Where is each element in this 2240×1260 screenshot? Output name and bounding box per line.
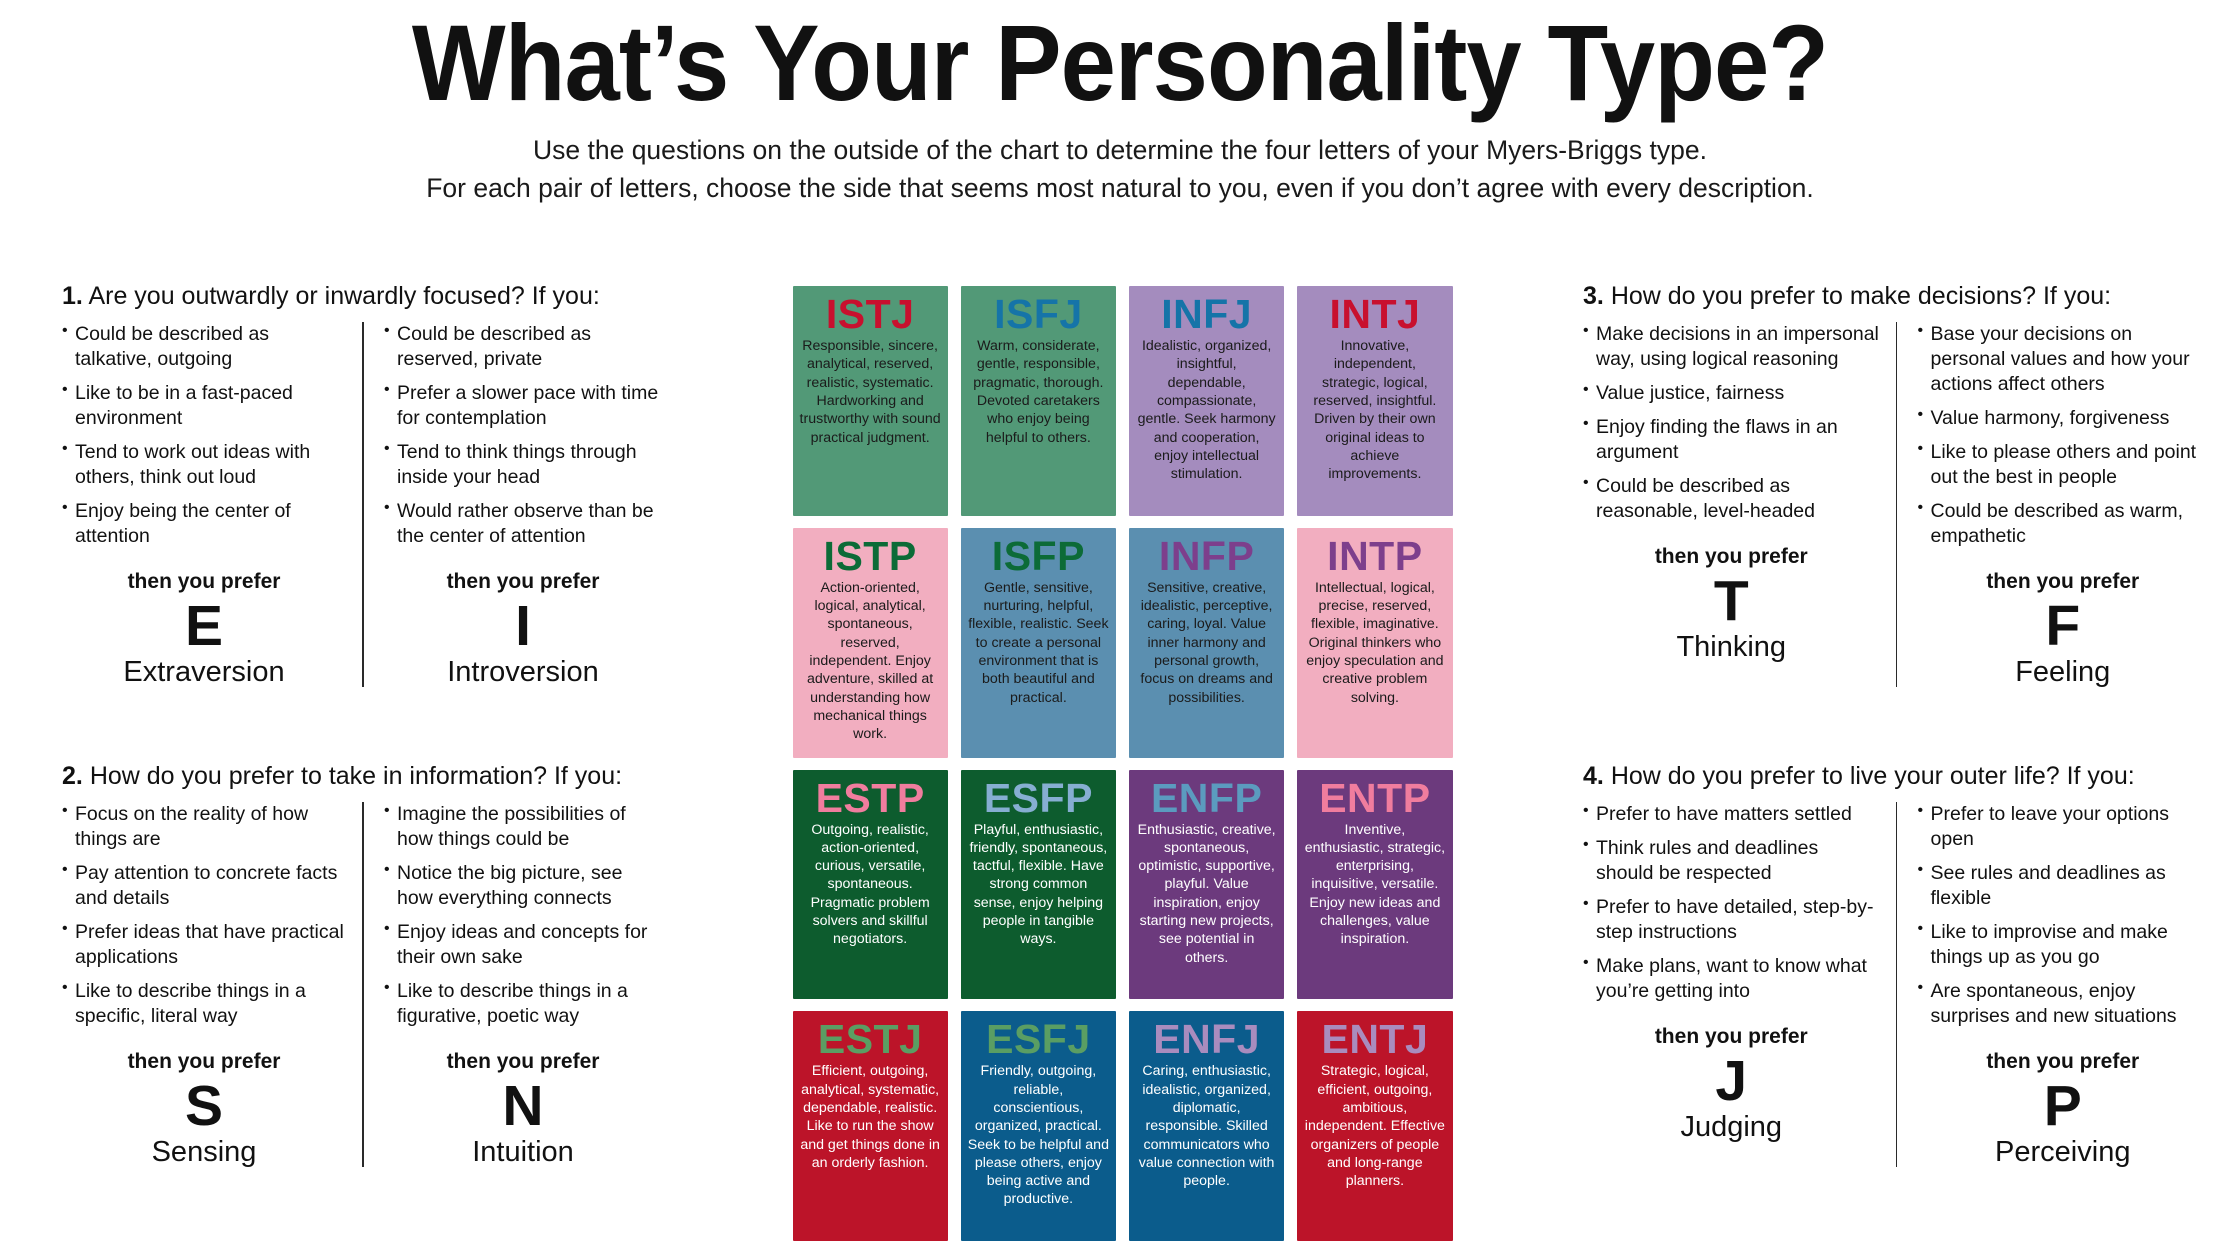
type-code: ESTP	[816, 778, 925, 819]
list-item: Enjoy finding the flaws in an argument	[1583, 415, 1880, 465]
subtitle-line-2: For each pair of letters, choose the sid…	[0, 170, 2240, 208]
question-block-2: 2. How do you prefer to take in informat…	[62, 762, 662, 1242]
list-item: Prefer to have matters settled	[1583, 802, 1880, 827]
preference-name-feeling: Feeling	[1918, 657, 2209, 687]
question-2-number: 2.	[62, 762, 83, 790]
type-description: Caring, enthusiastic, idealistic, organi…	[1136, 1062, 1277, 1190]
question-2-side-a-bullets: Focus on the reality of how things are P…	[62, 802, 346, 1038]
question-2-side-a: Focus on the reality of how things are P…	[62, 802, 362, 1167]
list-item: Imagine the possibilities of how things …	[384, 802, 662, 852]
list-item: Notice the big picture, see how everythi…	[384, 861, 662, 911]
subtitle-line-1: Use the questions on the outside of the …	[0, 132, 2240, 170]
type-code: ENFP	[1151, 778, 1262, 819]
preference-name-sensing: Sensing	[62, 1137, 346, 1167]
type-card-enfp[interactable]: ENFP Enthusiastic, creative, spontaneous…	[1129, 770, 1284, 1000]
question-1-number: 1.	[62, 282, 83, 310]
preference-name-judging: Judging	[1583, 1112, 1880, 1142]
preference-letter-F: F	[1918, 598, 2209, 655]
type-card-intj[interactable]: INTJ Innovative, independent, strategic,…	[1297, 286, 1452, 516]
type-card-entp[interactable]: ENTP Inventive, enthusiastic, strategic,…	[1297, 770, 1452, 1000]
preference-name-thinking: Thinking	[1583, 632, 1880, 662]
list-item: Make decisions in an impersonal way, usi…	[1583, 322, 1880, 372]
list-item: Are spontaneous, enjoy surprises and new…	[1918, 979, 2209, 1029]
preference-name-extraversion: Extraversion	[62, 657, 346, 687]
type-description: Idealistic, organized, insightful, depen…	[1136, 337, 1277, 484]
question-3-side-b: Base your decisions on personal values a…	[1896, 322, 2209, 687]
left-question-column: 1. Are you outwardly or inwardly focused…	[62, 282, 662, 1260]
type-card-isfp[interactable]: ISFP Gentle, sensitive, nurturing, helpf…	[961, 528, 1116, 758]
list-item: Prefer ideas that have practical applica…	[62, 920, 346, 970]
type-card-esfj[interactable]: ESFJ Friendly, outgoing, reliable, consc…	[961, 1011, 1116, 1241]
list-item: Tend to think things through inside your…	[384, 440, 662, 490]
type-code: INTJ	[1329, 294, 1420, 335]
question-1-side-a: Could be described as talkative, outgoin…	[62, 322, 362, 687]
then-you-prefer-label: then you prefer	[384, 570, 662, 594]
type-code: ISFJ	[994, 294, 1083, 335]
subtitle-block: Use the questions on the outside of the …	[0, 132, 2240, 207]
type-card-estj[interactable]: ESTJ Efficient, outgoing, analytical, sy…	[793, 1011, 948, 1241]
type-description: Intellectual, logical, precise, reserved…	[1304, 579, 1445, 707]
then-you-prefer-label: then you prefer	[1918, 1050, 2209, 1074]
type-description: Strategic, logical, efficient, outgoing,…	[1304, 1062, 1445, 1190]
question-4-number: 4.	[1583, 762, 1604, 790]
header: What’s Your Personality Type? Use the qu…	[0, 0, 2240, 207]
list-item: Value justice, fairness	[1583, 381, 1880, 406]
type-code: ISTP	[824, 536, 917, 577]
question-4-text: How do you prefer to live your outer lif…	[1611, 762, 2135, 790]
list-item: Make plans, want to know what you’re get…	[1583, 954, 1880, 1004]
then-you-prefer-label: then you prefer	[1918, 570, 2209, 594]
question-1-text: Are you outwardly or inwardly focused? I…	[88, 282, 599, 310]
type-code: INTP	[1327, 536, 1422, 577]
type-code: ISFP	[992, 536, 1085, 577]
question-3-text: How do you prefer to make decisions? If …	[1611, 282, 2111, 310]
question-4-heading: 4. How do you prefer to live your outer …	[1583, 762, 2208, 791]
type-card-isfj[interactable]: ISFJ Warm, considerate, gentle, responsi…	[961, 286, 1116, 516]
question-2-columns: Focus on the reality of how things are P…	[62, 802, 662, 1167]
list-item: Think rules and deadlines should be resp…	[1583, 836, 1880, 886]
type-code: INFJ	[1161, 294, 1252, 335]
type-card-entj[interactable]: ENTJ Strategic, logical, efficient, outg…	[1297, 1011, 1452, 1241]
then-you-prefer-label: then you prefer	[62, 570, 346, 594]
list-item: Could be described as reserved, private	[384, 322, 662, 372]
then-you-prefer-label: then you prefer	[62, 1050, 346, 1074]
list-item: Enjoy ideas and concepts for their own s…	[384, 920, 662, 970]
type-card-istj[interactable]: ISTJ Responsible, sincere, analytical, r…	[793, 286, 948, 516]
main-content: 1. Are you outwardly or inwardly focused…	[0, 282, 2240, 1260]
type-description: Playful, enthusiastic, friendly, spontan…	[968, 821, 1109, 949]
list-item: Could be described as warm, empathetic	[1918, 499, 2209, 549]
type-description: Innovative, independent, strategic, logi…	[1304, 337, 1445, 484]
preference-name-perceiving: Perceiving	[1918, 1137, 2209, 1167]
list-item: Focus on the reality of how things are	[62, 802, 346, 852]
type-card-intp[interactable]: INTP Intellectual, logical, precise, res…	[1297, 528, 1452, 758]
type-description: Outgoing, realistic, action-oriented, cu…	[800, 821, 941, 949]
list-item: Prefer to have detailed, step-by-step in…	[1583, 895, 1880, 945]
list-item: Like to describe things in a specific, l…	[62, 979, 346, 1029]
type-description: Sensitive, creative, idealistic, percept…	[1136, 579, 1277, 707]
list-item: Pay attention to concrete facts and deta…	[62, 861, 346, 911]
type-card-esfp[interactable]: ESFP Playful, enthusiastic, friendly, sp…	[961, 770, 1116, 1000]
list-item: Would rather observe than be the center …	[384, 499, 662, 549]
type-code: ENTJ	[1321, 1019, 1428, 1060]
question-1-side-a-bullets: Could be described as talkative, outgoin…	[62, 322, 346, 558]
type-description: Responsible, sincere, analytical, reserv…	[800, 337, 941, 447]
type-card-enfj[interactable]: ENFJ Caring, enthusiastic, idealistic, o…	[1129, 1011, 1284, 1241]
question-1-side-b-bullets: Could be described as reserved, private …	[384, 322, 662, 558]
question-2-side-b-bullets: Imagine the possibilities of how things …	[384, 802, 662, 1038]
then-you-prefer-label: then you prefer	[384, 1050, 662, 1074]
type-description: Inventive, enthusiastic, strategic, ente…	[1304, 821, 1445, 949]
question-4-side-b: Prefer to leave your options open See ru…	[1896, 802, 2209, 1167]
personality-type-grid-wrap: ISTJ Responsible, sincere, analytical, r…	[793, 286, 1453, 1260]
page-title: What’s Your Personality Type?	[90, 8, 2151, 118]
preference-letter-S: S	[62, 1078, 346, 1135]
type-description: Enthusiastic, creative, spontaneous, opt…	[1136, 821, 1277, 968]
type-code: ENFJ	[1153, 1019, 1260, 1060]
question-2-text: How do you prefer to take in information…	[90, 762, 622, 790]
type-description: Action-oriented, logical, analytical, sp…	[800, 579, 941, 744]
type-description: Warm, considerate, gentle, responsible, …	[968, 337, 1109, 447]
question-block-3: 3. How do you prefer to make decisions? …	[1583, 282, 2208, 762]
list-item: Tend to work out ideas with others, thin…	[62, 440, 346, 490]
type-code: ESFJ	[986, 1019, 1091, 1060]
type-card-estp[interactable]: ESTP Outgoing, realistic, action-oriente…	[793, 770, 948, 1000]
list-item: Like to be in a fast-paced environment	[62, 381, 346, 431]
type-card-infj[interactable]: INFJ Idealistic, organized, insightful, …	[1129, 286, 1284, 516]
personality-type-grid: ISTJ Responsible, sincere, analytical, r…	[793, 286, 1453, 1241]
question-3-heading: 3. How do you prefer to make decisions? …	[1583, 282, 2208, 311]
type-code: ESTJ	[818, 1019, 923, 1060]
question-3-number: 3.	[1583, 282, 1604, 310]
question-4-side-b-bullets: Prefer to leave your options open See ru…	[1918, 802, 2209, 1038]
type-description: Gentle, sensitive, nurturing, helpful, f…	[968, 579, 1109, 707]
question-1-heading: 1. Are you outwardly or inwardly focused…	[62, 282, 662, 311]
preference-letter-P: P	[1918, 1078, 2209, 1135]
question-1-side-b: Could be described as reserved, private …	[362, 322, 662, 687]
preference-letter-J: J	[1583, 1053, 1880, 1110]
list-item: Like to describe things in a figurative,…	[384, 979, 662, 1029]
preference-letter-E: E	[62, 598, 346, 655]
right-question-column: 3. How do you prefer to make decisions? …	[1583, 282, 2208, 1260]
question-block-1: 1. Are you outwardly or inwardly focused…	[62, 282, 662, 762]
type-description: Efficient, outgoing, analytical, systema…	[800, 1062, 941, 1172]
question-2-heading: 2. How do you prefer to take in informat…	[62, 762, 662, 791]
question-3-side-a-bullets: Make decisions in an impersonal way, usi…	[1583, 322, 1880, 533]
infographic-page: What’s Your Personality Type? Use the qu…	[0, 0, 2240, 1260]
question-3-side-a: Make decisions in an impersonal way, usi…	[1583, 322, 1896, 687]
type-code: ISTJ	[826, 294, 915, 335]
list-item: Enjoy being the center of attention	[62, 499, 346, 549]
question-3-side-b-bullets: Base your decisions on personal values a…	[1918, 322, 2209, 558]
preference-letter-I: I	[384, 598, 662, 655]
then-you-prefer-label: then you prefer	[1583, 545, 1880, 569]
list-item: Could be described as talkative, outgoin…	[62, 322, 346, 372]
list-item: Like to please others and point out the …	[1918, 440, 2209, 490]
type-card-istp[interactable]: ISTP Action-oriented, logical, analytica…	[793, 528, 948, 758]
type-code: INFP	[1159, 536, 1254, 577]
preference-name-introversion: Introversion	[384, 657, 662, 687]
question-4-columns: Prefer to have matters settled Think rul…	[1583, 802, 2208, 1167]
type-card-infp[interactable]: INFP Sensitive, creative, idealistic, pe…	[1129, 528, 1284, 758]
preference-letter-N: N	[384, 1078, 662, 1135]
question-4-side-a: Prefer to have matters settled Think rul…	[1583, 802, 1896, 1167]
preference-letter-T: T	[1583, 573, 1880, 630]
question-1-columns: Could be described as talkative, outgoin…	[62, 322, 662, 687]
list-item: Value harmony, forgiveness	[1918, 406, 2209, 431]
list-item: Like to improvise and make things up as …	[1918, 920, 2209, 970]
question-2-side-b: Imagine the possibilities of how things …	[362, 802, 662, 1167]
question-3-columns: Make decisions in an impersonal way, usi…	[1583, 322, 2208, 687]
list-item: See rules and deadlines as flexible	[1918, 861, 2209, 911]
type-code: ESFP	[984, 778, 1093, 819]
list-item: Base your decisions on personal values a…	[1918, 322, 2209, 397]
list-item: Prefer a slower pace with time for conte…	[384, 381, 662, 431]
question-block-4: 4. How do you prefer to live your outer …	[1583, 762, 2208, 1242]
list-item: Prefer to leave your options open	[1918, 802, 2209, 852]
type-code: ENTP	[1319, 778, 1430, 819]
preference-name-intuition: Intuition	[384, 1137, 662, 1167]
type-description: Friendly, outgoing, reliable, conscienti…	[968, 1062, 1109, 1209]
question-4-side-a-bullets: Prefer to have matters settled Think rul…	[1583, 802, 1880, 1013]
then-you-prefer-label: then you prefer	[1583, 1025, 1880, 1049]
list-item: Could be described as reasonable, level-…	[1583, 474, 1880, 524]
